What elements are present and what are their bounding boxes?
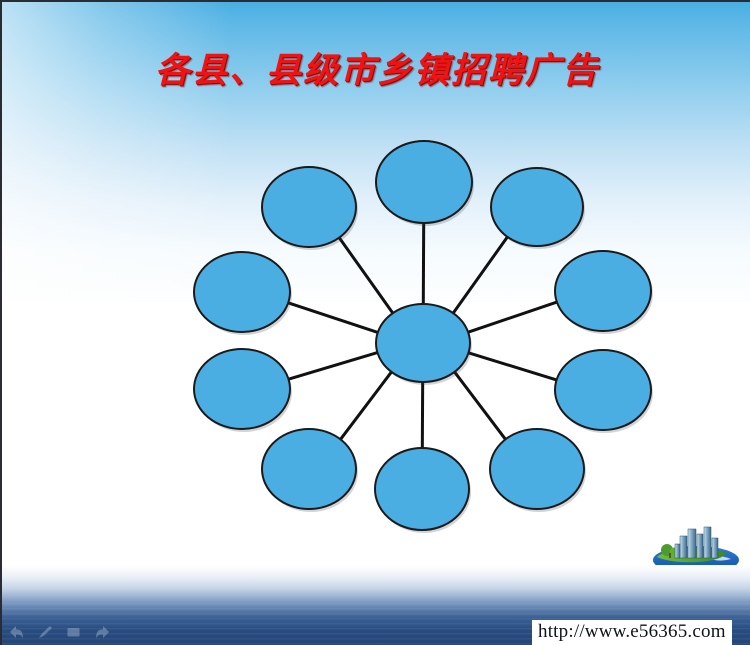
diagram-node-9[interactable] bbox=[194, 252, 292, 335]
diagram-node-1[interactable] bbox=[376, 141, 474, 226]
diagram-node-7-shape[interactable] bbox=[262, 429, 356, 509]
spoke-line-2 bbox=[453, 237, 507, 313]
stop-square-icon[interactable] bbox=[66, 625, 81, 639]
forward-arrow-icon[interactable] bbox=[94, 625, 111, 639]
diagram-node-4[interactable] bbox=[555, 350, 653, 433]
spoke-line-5 bbox=[455, 372, 506, 439]
diagram-node-3-shape[interactable] bbox=[555, 251, 651, 331]
presentation-slide: 各县、县级市乡镇招聘广告 bbox=[0, 0, 750, 645]
diagram-hub-node-shape[interactable] bbox=[376, 304, 470, 382]
pen-icon[interactable] bbox=[38, 625, 53, 639]
diagram-node-8[interactable] bbox=[194, 349, 292, 432]
diagram-node-2[interactable] bbox=[491, 168, 585, 249]
diagram-node-1-shape[interactable] bbox=[376, 141, 472, 223]
diagram-node-3[interactable] bbox=[555, 251, 653, 334]
spoke-line-10 bbox=[339, 238, 393, 313]
diagram-node-4-shape[interactable] bbox=[555, 350, 651, 430]
radial-diagram bbox=[2, 2, 750, 645]
diagram-nodes-group bbox=[194, 141, 653, 533]
back-arrow-icon[interactable] bbox=[8, 625, 25, 639]
diagram-node-8-shape[interactable] bbox=[194, 349, 290, 429]
diagram-node-2-shape[interactable] bbox=[491, 168, 583, 246]
spoke-line-4 bbox=[468, 353, 556, 380]
radial-diagram-canvas bbox=[2, 2, 750, 645]
spoke-line-3 bbox=[468, 302, 557, 332]
diagram-node-7[interactable] bbox=[262, 429, 358, 512]
diagram-node-9-shape[interactable] bbox=[194, 252, 290, 332]
spoke-line-8 bbox=[289, 353, 378, 380]
spoke-line-7 bbox=[341, 372, 392, 439]
diagram-node-6-shape[interactable] bbox=[375, 448, 469, 530]
navigation-icons-bar[interactable] bbox=[8, 625, 111, 639]
diagram-node-5[interactable] bbox=[490, 429, 586, 512]
site-watermark: http://www.e56365.com bbox=[532, 620, 732, 645]
diagram-node-10-shape[interactable] bbox=[262, 167, 356, 247]
diagram-node-10[interactable] bbox=[262, 167, 358, 250]
diagram-node-6[interactable] bbox=[375, 448, 471, 533]
spoke-line-9 bbox=[288, 303, 378, 333]
diagram-node-5-shape[interactable] bbox=[490, 429, 584, 509]
